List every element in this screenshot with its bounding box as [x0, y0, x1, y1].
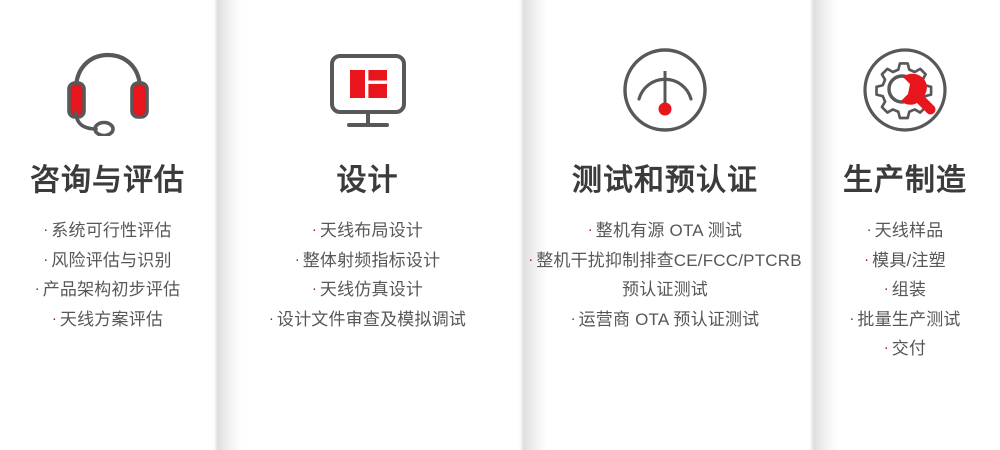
list-item: ·天线仿真设计: [215, 275, 520, 305]
column-title: 测试和预认证: [572, 166, 758, 196]
bullet-dot-icon: ·: [312, 280, 317, 297]
list-item: ·批量生产测试: [810, 305, 1000, 335]
bullet-dot-icon: ·: [312, 221, 317, 238]
list-item: ·整体射频指标设计: [215, 246, 520, 276]
list-item-label: 天线布局设计: [320, 221, 423, 240]
stage-detail-list: ·天线布局设计 ·整体射频指标设计 ·天线仿真设计 ·设计文件审查及模拟调试: [215, 216, 520, 334]
stage-column-consulting: 咨询与评估 ·系统可行性评估 ·风险评估与识别 ·产品架构初步评估 ·天线方案评…: [0, 0, 215, 450]
bullet-dot-icon: ·: [35, 280, 40, 297]
list-item-label: 天线方案评估: [60, 310, 163, 329]
gauge-icon: [619, 40, 711, 140]
bullet-dot-icon: ·: [849, 310, 854, 327]
list-item-label: 整体射频指标设计: [303, 251, 441, 270]
bullet-dot-icon: ·: [43, 251, 48, 268]
bullet-dot-icon: ·: [571, 310, 576, 327]
list-item: ·天线样品: [810, 216, 1000, 246]
list-item: ·模具/注塑: [810, 246, 1000, 276]
list-item: ·天线布局设计: [215, 216, 520, 246]
list-item: ·整机干扰抑制排查CE/FCC/PTCRB 预认证测试: [520, 246, 810, 305]
stage-detail-list: ·系统可行性评估 ·风险评估与识别 ·产品架构初步评估 ·天线方案评估: [0, 216, 215, 334]
bullet-dot-icon: ·: [52, 310, 57, 327]
list-item: ·组装: [810, 275, 1000, 305]
list-item: ·设计文件审查及模拟调试: [215, 305, 520, 335]
headset-icon: [60, 40, 156, 140]
list-item-label: 模具/注塑: [872, 251, 946, 270]
column-title: 设计: [337, 166, 399, 196]
bullet-dot-icon: ·: [867, 221, 872, 238]
bullet-dot-icon: ·: [864, 251, 869, 268]
list-item-label: 整机干扰抑制排查CE/FCC/PTCRB 预认证测试: [536, 251, 802, 300]
stage-column-testing: 测试和预认证 ·整机有源 OTA 测试 ·整机干扰抑制排查CE/FCC/PTCR…: [520, 0, 810, 450]
list-item-label: 产品架构初步评估: [43, 280, 181, 299]
list-item: ·天线方案评估: [0, 305, 215, 335]
stage-detail-list: ·整机有源 OTA 测试 ·整机干扰抑制排查CE/FCC/PTCRB 预认证测试…: [512, 216, 818, 334]
list-item-label: 运营商 OTA 预认证测试: [579, 310, 760, 329]
bullet-dot-icon: ·: [269, 310, 274, 327]
list-item: ·运营商 OTA 预认证测试: [520, 305, 810, 335]
list-item: ·产品架构初步评估: [0, 275, 215, 305]
stage-column-manufacturing: 生产制造 ·天线样品 ·模具/注塑 ·组装 ·批量生产测试 ·交付: [810, 0, 1000, 450]
stage-detail-list: ·天线样品 ·模具/注塑 ·组装 ·批量生产测试 ·交付: [810, 216, 1000, 364]
list-item: ·整机有源 OTA 测试: [520, 216, 810, 246]
list-item-label: 整机有源 OTA 测试: [596, 221, 742, 240]
list-item-label: 天线样品: [875, 221, 944, 240]
bullet-dot-icon: ·: [588, 221, 593, 238]
list-item-label: 风险评估与识别: [51, 251, 171, 270]
list-item: ·风险评估与识别: [0, 246, 215, 276]
bullet-dot-icon: ·: [884, 280, 889, 297]
bullet-dot-icon: ·: [528, 251, 533, 268]
bullet-dot-icon: ·: [295, 251, 300, 268]
list-item-label: 交付: [892, 339, 926, 358]
stage-column-design: 设计 ·天线布局设计 ·整体射频指标设计 ·天线仿真设计 ·设计文件审查及模拟调…: [215, 0, 520, 450]
list-item: ·系统可行性评估: [0, 216, 215, 246]
monitor-icon: [320, 40, 416, 140]
list-item-label: 天线仿真设计: [320, 280, 423, 299]
bullet-dot-icon: ·: [43, 221, 48, 238]
list-item-label: 组装: [892, 280, 926, 299]
process-stages-board: 咨询与评估 ·系统可行性评估 ·风险评估与识别 ·产品架构初步评估 ·天线方案评…: [0, 0, 1000, 450]
list-item: ·交付: [810, 334, 1000, 364]
bullet-dot-icon: ·: [884, 339, 889, 356]
gear-wrench-icon: [859, 40, 951, 140]
column-title: 咨询与评估: [30, 166, 185, 196]
list-item-label: 系统可行性评估: [51, 221, 171, 240]
column-title: 生产制造: [843, 166, 967, 196]
list-item-label: 批量生产测试: [857, 310, 960, 329]
list-item-label: 设计文件审查及模拟调试: [277, 310, 466, 329]
